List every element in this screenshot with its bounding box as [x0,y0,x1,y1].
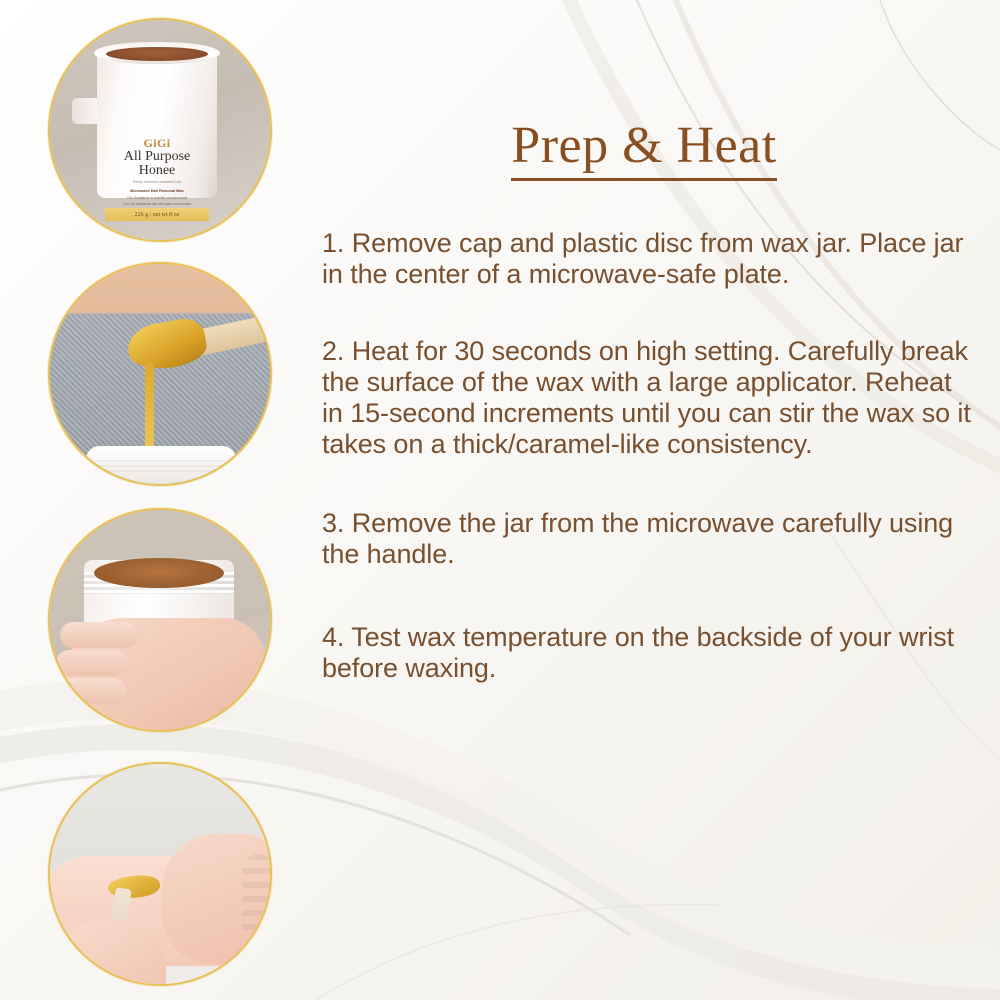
photo-product-jar-scene: GiGi All Purpose Honee Gently removes un… [50,20,270,240]
label-descriptor: Microwave Hair Removal Wax [105,189,209,193]
step-3: 3. Remove the jar from the microwave car… [322,508,972,570]
jar-body: GiGi All Purpose Honee Gently removes un… [97,48,217,198]
photo-wrist-test-scene [50,764,270,984]
photo-wrist-test [48,762,272,986]
label-tagline: Gently removes unwanted hair [105,180,209,184]
photo-hand-holding-jar-scene [50,510,270,730]
photo-wax-dripping-scene [50,264,270,484]
step-1: 1. Remove cap and plastic disc from wax … [322,228,972,290]
steps-list: 1. Remove cap and plastic disc from wax … [322,228,972,684]
label-net-weight: 226 g / net wt 8 oz [135,212,180,218]
finger-3 [60,678,126,704]
photo-product-jar: GiGi All Purpose Honee Gently removes un… [48,18,272,242]
label-name-line1: All Purpose [97,150,217,164]
finger-1 [60,622,138,648]
jar3-wax-surface [94,558,224,588]
photo-rail: GiGi All Purpose Honee Gently removes un… [0,0,310,1000]
label-descriptor-fr: Cire Dépilatoire à chauffer au microonde [105,196,209,200]
holding-hand [56,920,166,986]
jar-lid [86,446,236,486]
step-2: 2. Heat for 30 seconds on high setting. … [322,336,972,460]
closed-fist [162,834,272,964]
label-descriptor-es: Cera de depilación del vello para microo… [105,202,209,206]
page-title: Prep & Heat [511,118,776,181]
page-title-wrap: Prep & Heat [318,118,970,181]
step-4: 4. Test wax temperature on the backside … [322,622,972,684]
finger-2 [56,650,128,676]
wax-drip [145,362,154,454]
label-weight-band: 226 g / net wt 8 oz [105,208,209,221]
jar-wax-surface [106,47,208,61]
photo-wax-dripping [48,262,272,486]
photo-hand-holding-jar [48,508,272,732]
instructions-panel: Prep & Heat 1. Remove cap and plastic di… [318,0,1000,1000]
label-name-line2: Honee [97,164,217,178]
